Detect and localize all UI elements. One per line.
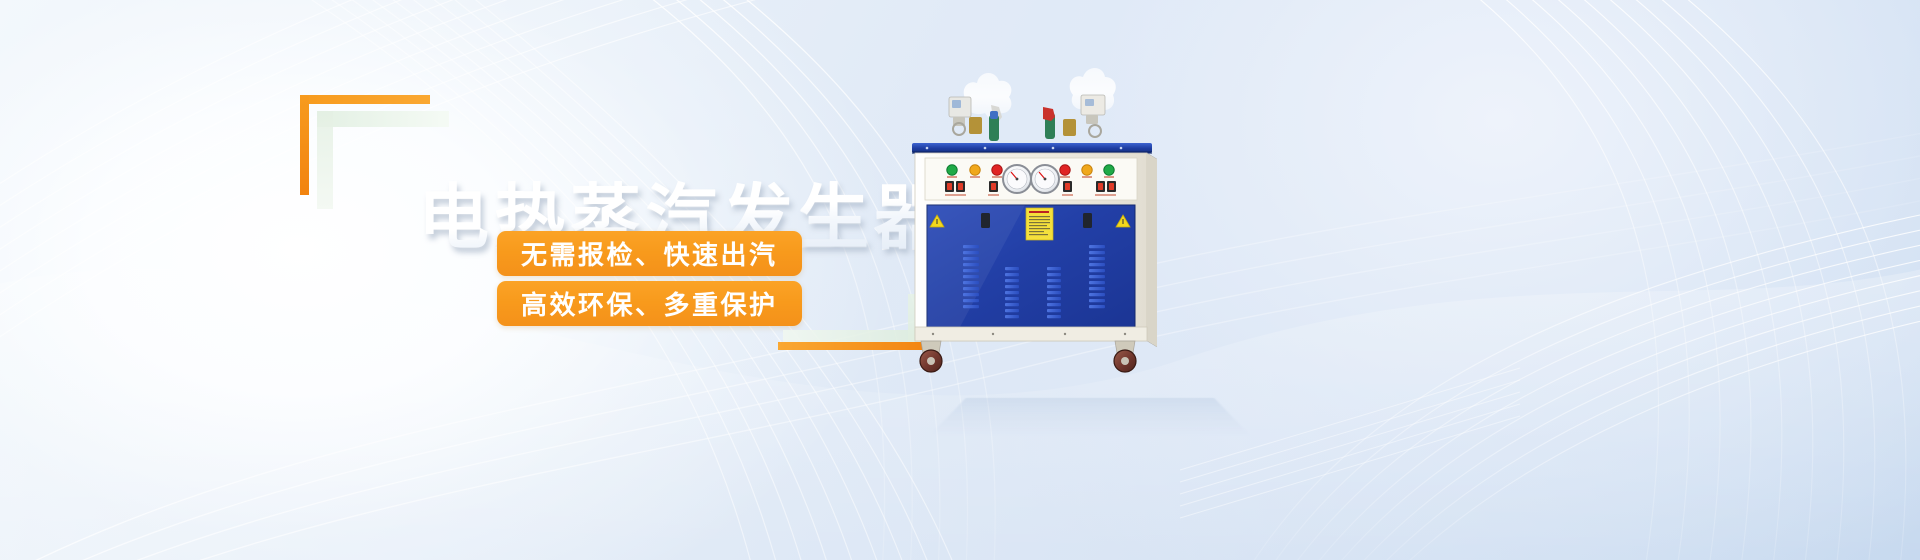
- door-latch: [981, 213, 990, 228]
- door-latch: [1083, 213, 1092, 228]
- feature-tag-2: 高效环保、多重保护: [497, 281, 802, 326]
- promo-banner: 电热蒸汽发生器 无需报检、快速出汽 高效环保、多重保护: [0, 0, 1920, 560]
- base-plinth: [915, 327, 1147, 341]
- bracket-green-vertical: [317, 111, 333, 209]
- pressure-gauge-right: [1031, 165, 1059, 193]
- bracket-orange-vertical: [300, 95, 309, 195]
- product-reflection: [930, 398, 1251, 436]
- instruction-label: [1026, 208, 1053, 240]
- caster-wheel-right: [1114, 341, 1136, 372]
- bracket-green-horizontal: [317, 111, 449, 127]
- pressure-gauge-left: [1003, 165, 1031, 193]
- feature-tag-1: 无需报检、快速出汽: [497, 231, 802, 276]
- product-image: [905, 55, 1195, 385]
- caster-wheel-left: [920, 341, 942, 372]
- bracket-orange-horizontal: [300, 95, 430, 104]
